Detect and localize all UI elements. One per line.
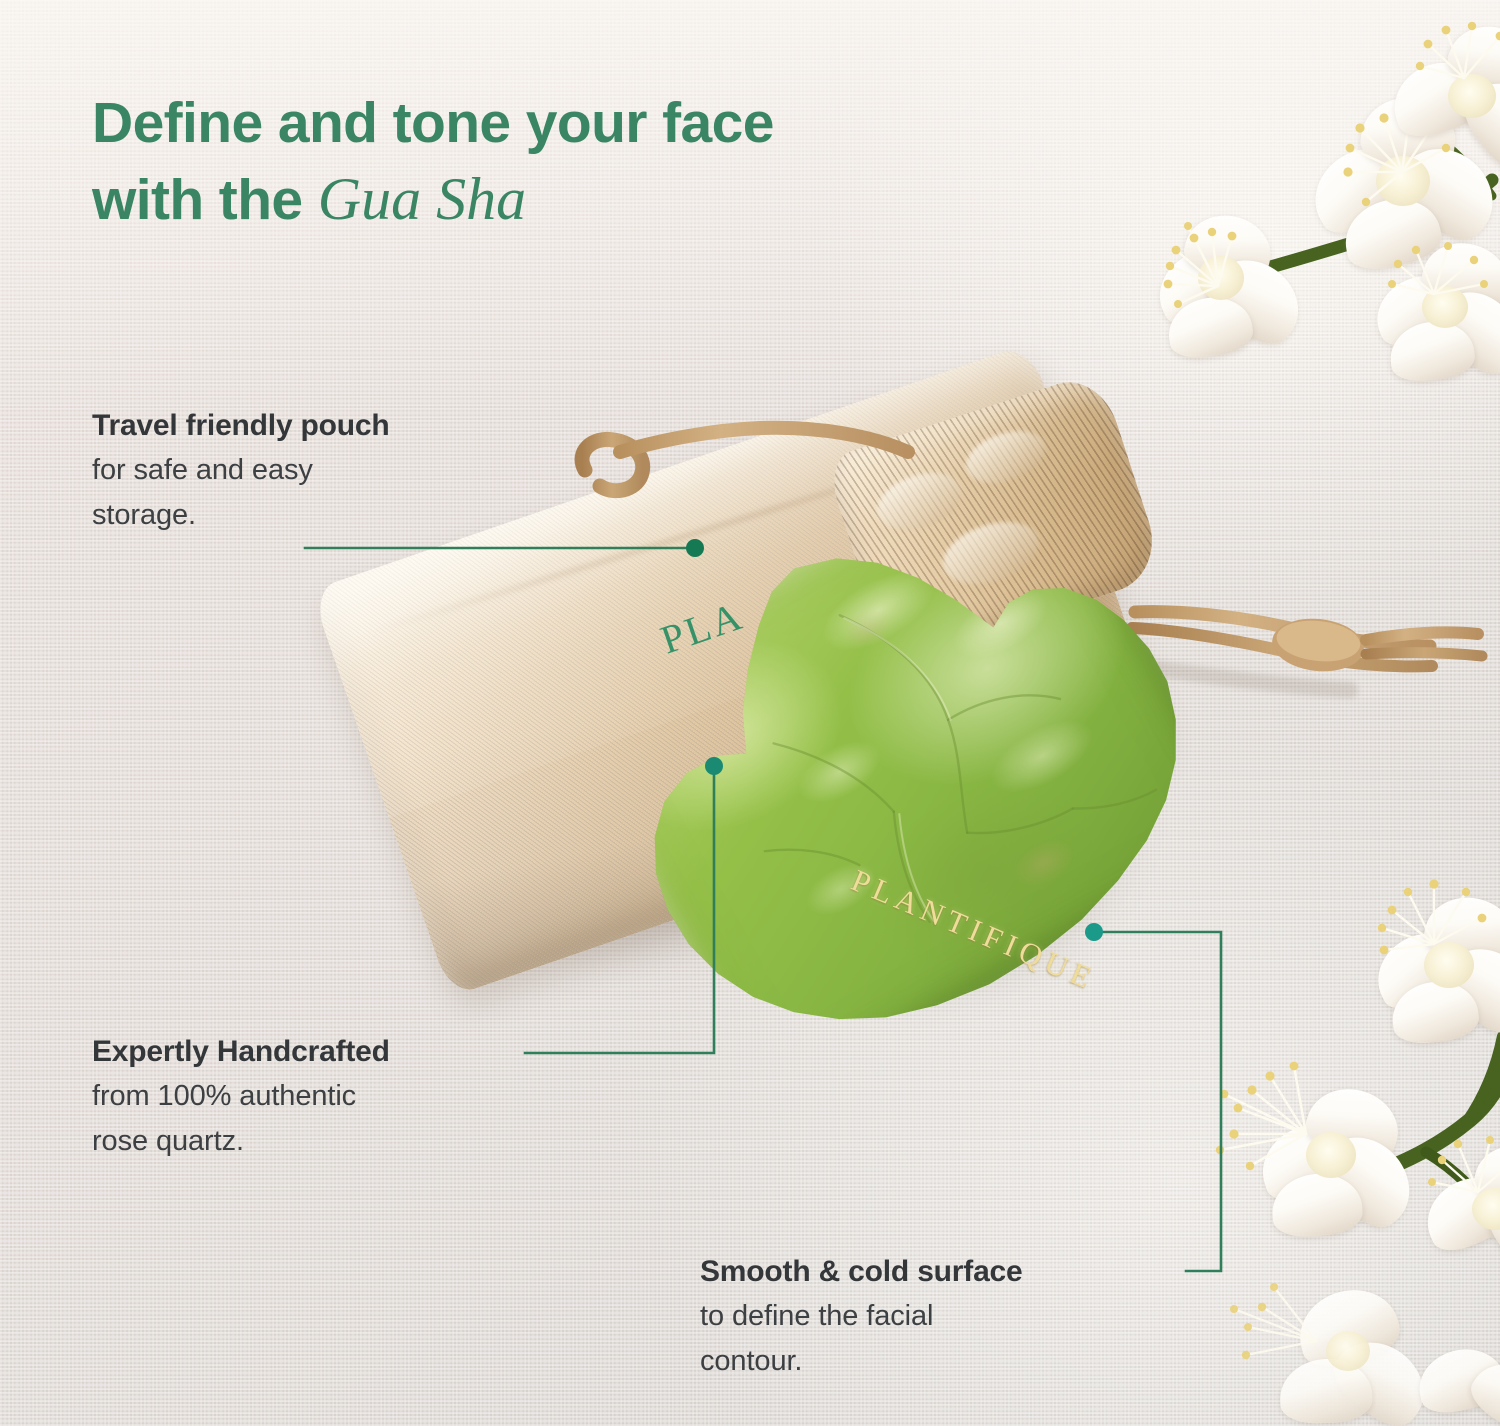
- callout-body-line-2: rose quartz.: [92, 1119, 562, 1164]
- headline-line-2-prefix: with the: [92, 168, 318, 232]
- callout-title: Expertly Handcrafted: [92, 1030, 562, 1074]
- callout-body-line-2: storage.: [92, 493, 562, 538]
- infographic-canvas: PLA: [0, 0, 1500, 1426]
- callout-body-line-1: from 100% authentic: [92, 1074, 562, 1119]
- headline-line-1: Define and tone your face: [92, 91, 774, 155]
- callout-expertly-handcrafted: Expertly Handcrafted from 100% authentic…: [92, 1030, 562, 1164]
- callout-body-line-2: contour.: [700, 1339, 1190, 1384]
- callout-body-line-1: for safe and easy: [92, 448, 562, 493]
- callout-body-line-1: to define the facial: [700, 1294, 1190, 1339]
- callout-title: Smooth & cold surface: [700, 1250, 1190, 1294]
- callout-title: Travel friendly pouch: [92, 404, 562, 448]
- callout-smooth-cold-surface: Smooth & cold surface to define the faci…: [700, 1250, 1190, 1384]
- callout-travel-pouch: Travel friendly pouch for safe and easy …: [92, 404, 562, 538]
- page-title: Define and tone your face with the Gua S…: [92, 86, 1012, 238]
- headline-product-name: Gua Sha: [318, 166, 526, 232]
